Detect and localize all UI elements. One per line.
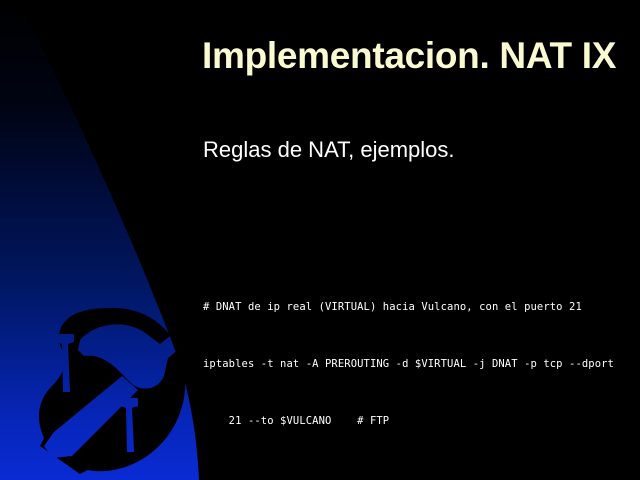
- code-command: iptables -t nat -A PREROUTING -d $VIRTUA…: [203, 355, 639, 374]
- blue-gradient-curve: [0, 0, 210, 480]
- hammer-and-nails-emblem: [22, 306, 190, 476]
- code-comment: # DNAT de ip real (VIRTUAL) hacia Vulcan…: [203, 298, 639, 317]
- page-title: Implementacion. NAT IX: [202, 38, 632, 74]
- page-subtitle: Reglas de NAT, ejemplos.: [203, 138, 633, 162]
- slide-canvas: Implementacion. NAT IX Reglas de NAT, ej…: [0, 0, 640, 480]
- code-group-dnat: # DNAT de ip real (VIRTUAL) hacia Vulcan…: [203, 260, 639, 469]
- nat-rules-code-block: # DNAT de ip real (VIRTUAL) hacia Vulcan…: [203, 203, 639, 480]
- code-continuation: 21 --to $VULCANO # FTP: [203, 412, 639, 431]
